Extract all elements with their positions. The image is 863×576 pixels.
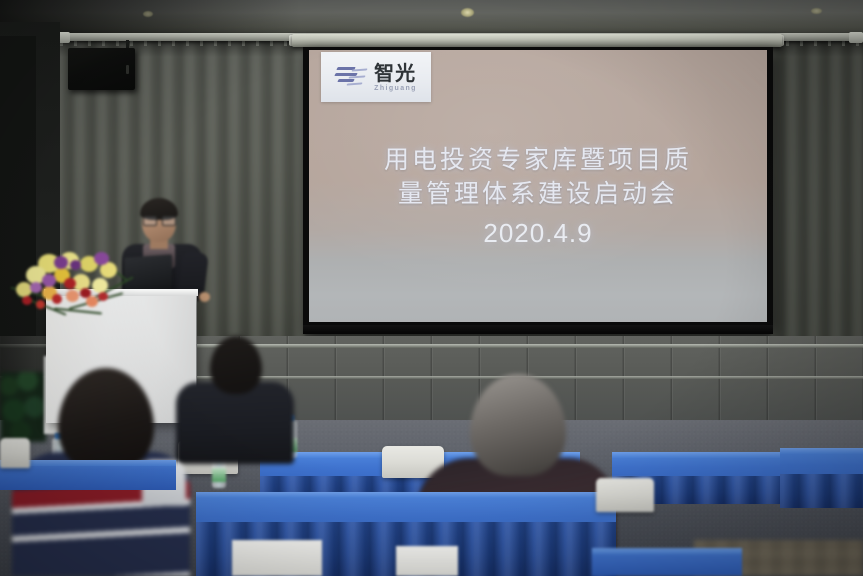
slide-title: 用电投资专家库暨项目质 量管理体系建设启动会 <box>309 143 767 211</box>
slide-logo-chinese: 智光 <box>374 63 416 83</box>
paper-sheet <box>396 546 458 576</box>
slide-date: 2020.4.9 <box>309 218 767 249</box>
presenter-hand <box>199 292 210 302</box>
attendee-jacket <box>176 382 294 464</box>
slide-title-line-1: 用电投资专家库暨项目质 <box>309 143 767 177</box>
table-front-right <box>592 548 742 576</box>
projector-screen-bottom-bar <box>303 325 773 334</box>
slide-logo-pinyin: Zhiguang <box>374 85 417 92</box>
chair-front <box>0 438 30 468</box>
curtain-rail-endcap <box>849 32 863 43</box>
projector-screen-surface: 智光 Zhiguang 用电投资专家库暨项目质 量管理体系建设启动会 2020.… <box>309 50 767 322</box>
zhiguang-stripes-logo-icon <box>335 64 369 90</box>
ceiling-downlight-icon <box>811 8 822 14</box>
attendee-dark-suit <box>176 336 294 462</box>
slide-logo-card: 智光 Zhiguang <box>321 52 431 102</box>
slide-title-line-2: 量管理体系建设启动会 <box>309 177 767 211</box>
projector-screen-roller <box>292 34 782 47</box>
ceiling-downlight-icon <box>461 8 474 17</box>
glasses-icon <box>143 216 175 224</box>
chair-front <box>596 478 654 512</box>
table-far-right <box>780 448 863 508</box>
podium-flower-arrangement <box>8 252 148 330</box>
attendee-head <box>58 368 154 472</box>
curtain-right <box>770 41 863 386</box>
ceiling-downlight-icon <box>143 11 153 17</box>
slide-logo-text: 智光 Zhiguang <box>374 63 417 92</box>
ceiling-speaker-icon <box>68 48 135 90</box>
attendee-head <box>470 374 566 476</box>
conference-photo: 智光 Zhiguang 用电投资专家库暨项目质 量管理体系建设启动会 2020.… <box>0 0 863 576</box>
left-wall-slab-dark <box>0 36 36 386</box>
attendee-head <box>210 336 262 394</box>
paper-sheet <box>232 540 322 576</box>
